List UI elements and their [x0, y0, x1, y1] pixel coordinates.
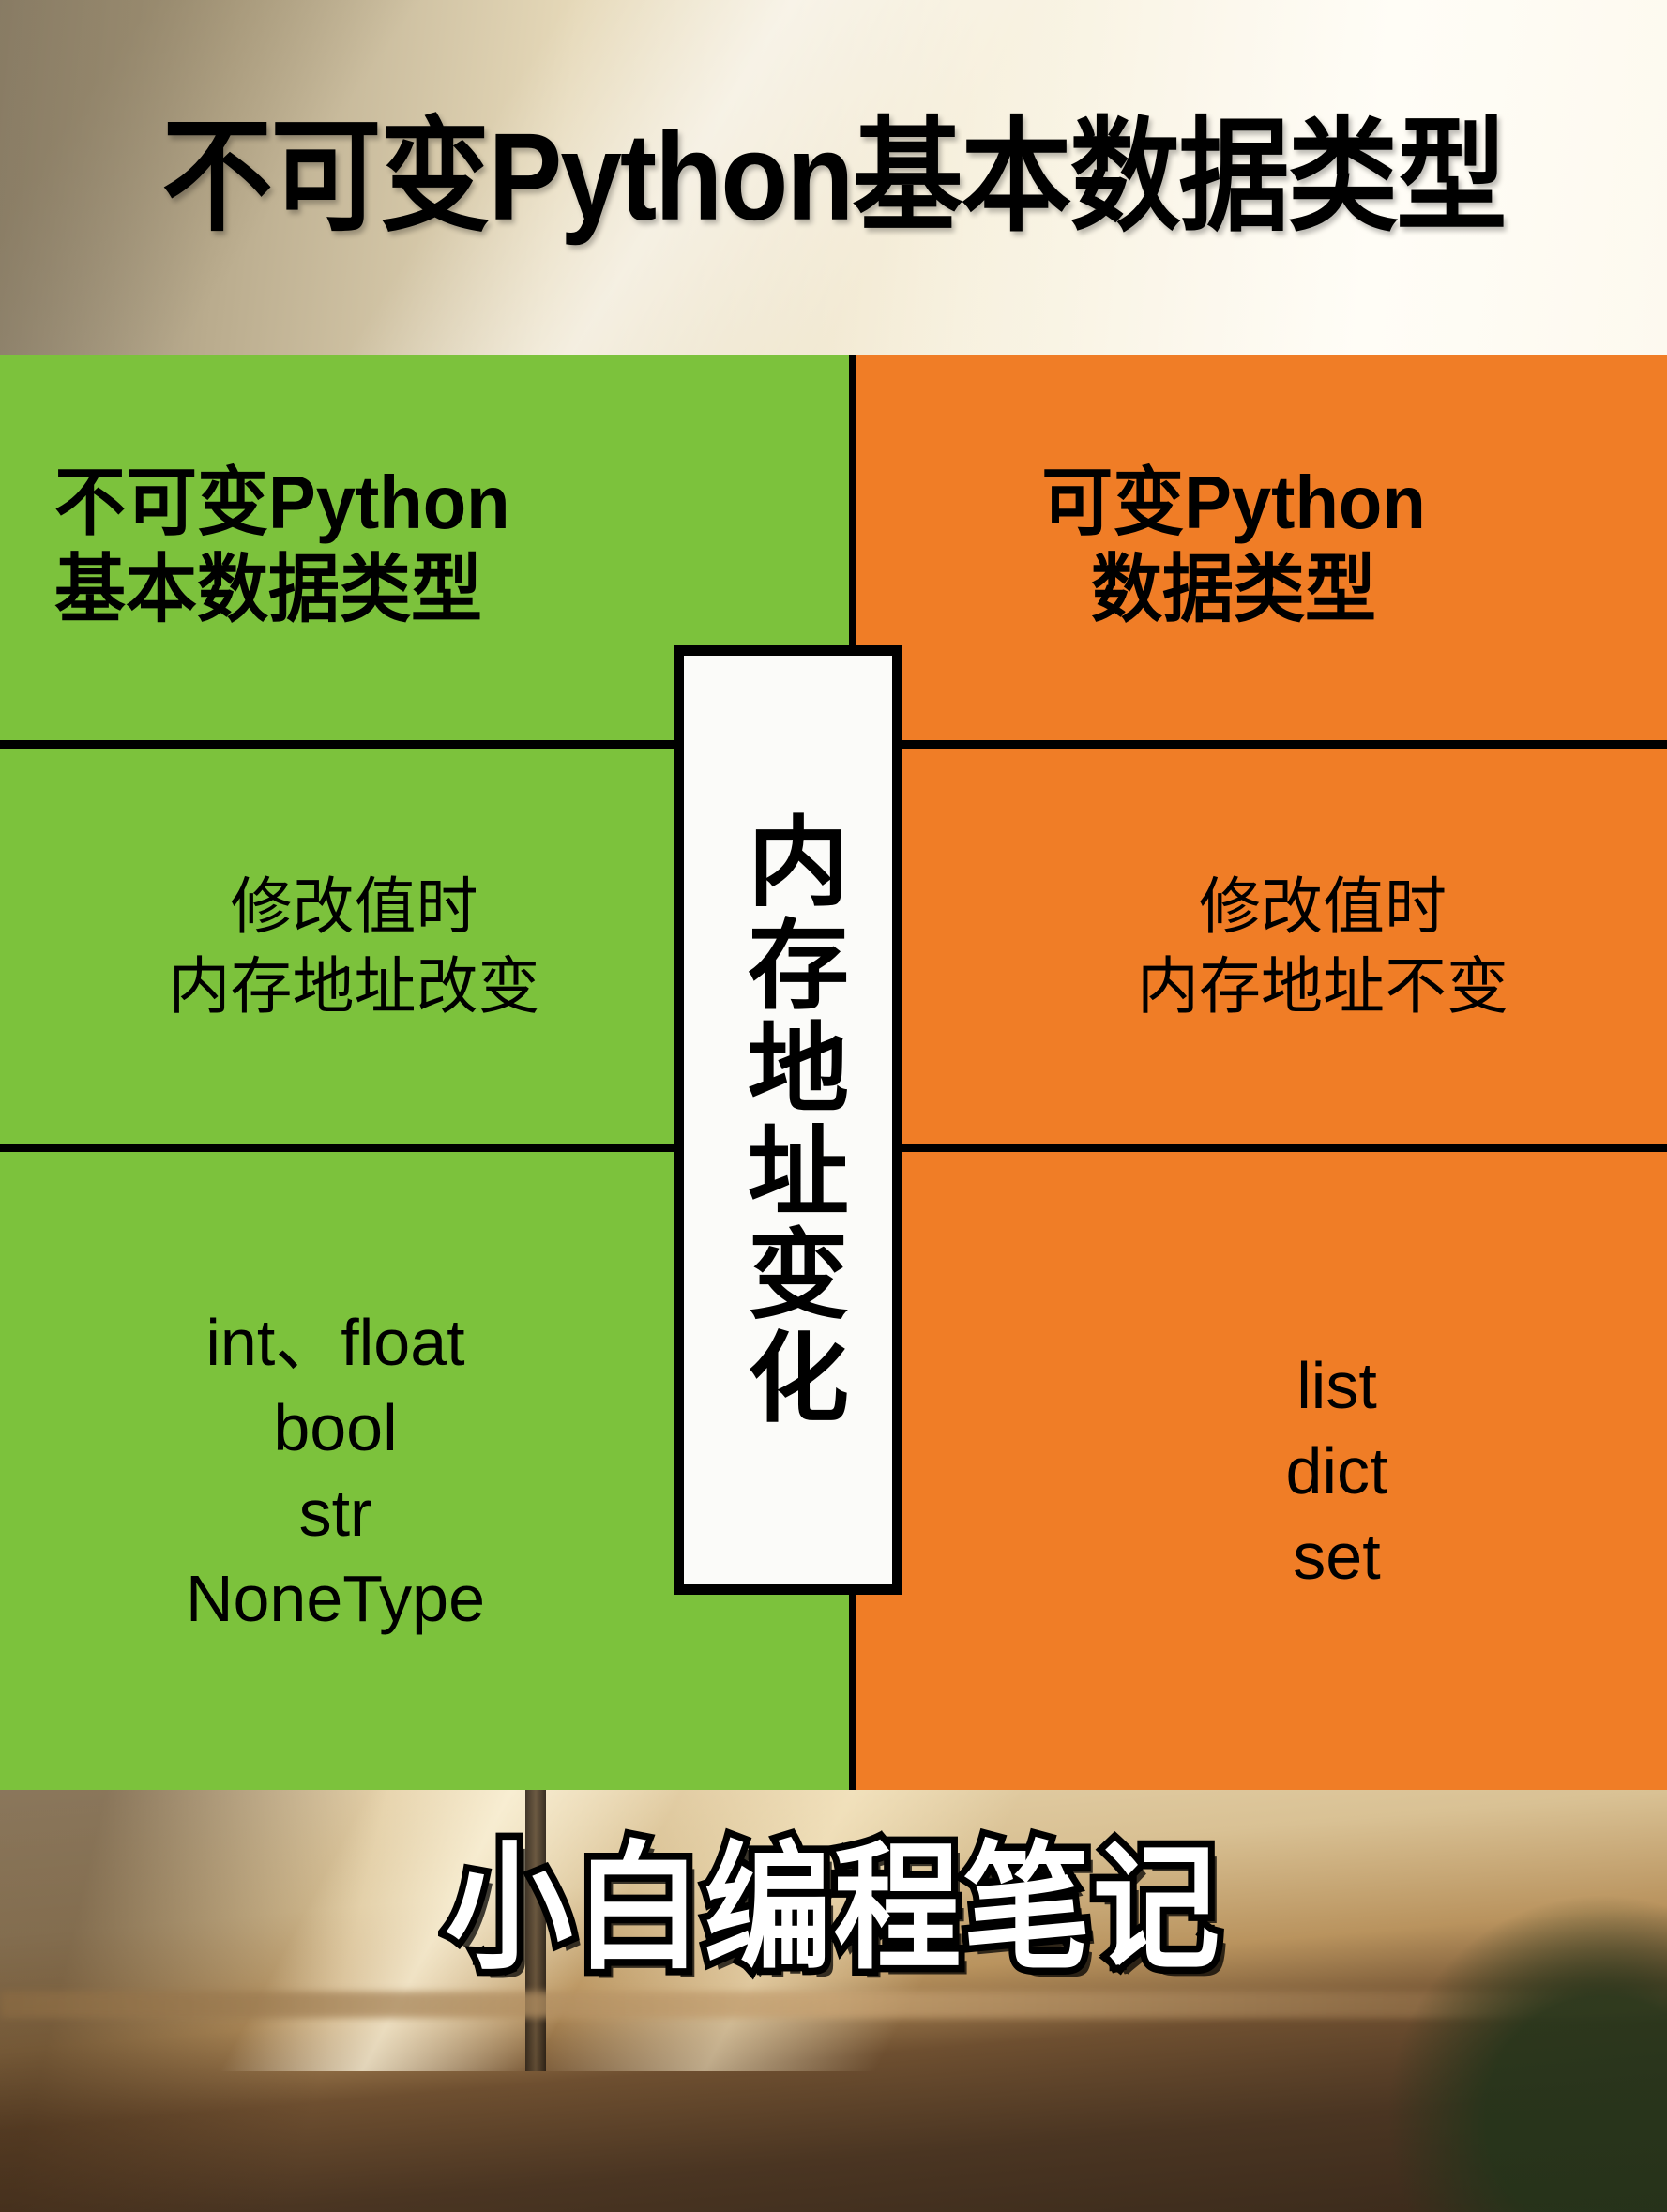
mutable-header-line1: 可变Python	[1041, 461, 1426, 548]
page-title: 不可变Python基本数据类型	[162, 115, 1506, 239]
mutable-types-list: list dict set	[1136, 1343, 1388, 1599]
mutable-header-line2: 数据类型	[1041, 548, 1426, 635]
list-item: dict	[1286, 1429, 1388, 1514]
mutable-behavior-line2: 内存地址不变	[1137, 947, 1508, 1025]
list-item: NoneType	[186, 1556, 485, 1642]
center-callout-box: 内存地址变化	[674, 645, 902, 1595]
mutable-header-text: 可变Python 数据类型	[1041, 461, 1482, 634]
mutable-behavior-line1: 修改值时	[1137, 867, 1508, 946]
title-bar: 不可变Python基本数据类型	[0, 0, 1667, 355]
list-item: bool	[186, 1386, 485, 1471]
immutable-behavior-text: 修改值时 内存地址改变	[169, 867, 681, 1025]
list-item: str	[186, 1471, 485, 1556]
immutable-behavior-line2: 内存地址改变	[169, 947, 540, 1025]
column-mutable: 可变Python 数据类型 修改值时 内存地址不变 list dict set	[856, 355, 1667, 1790]
cell-mutable-header: 可变Python 数据类型	[856, 355, 1667, 749]
list-item: list	[1286, 1343, 1388, 1429]
list-item: set	[1286, 1514, 1388, 1599]
footer-bar: 小白编程笔记	[0, 1790, 1667, 2212]
cell-mutable-behavior: 修改值时 内存地址不变	[856, 749, 1667, 1152]
immutable-types-list: int、float bool str NoneType	[186, 1300, 663, 1642]
list-item: int、float	[186, 1300, 485, 1386]
cell-mutable-types: list dict set	[856, 1152, 1667, 1790]
mutable-behavior-text: 修改值时 内存地址不变	[1015, 867, 1508, 1025]
center-callout-vertical-text: 内存地址变化	[737, 811, 839, 1430]
immutable-header-line1: 不可变Python	[54, 461, 510, 548]
immutable-header-text: 不可变Python 基本数据类型	[0, 461, 510, 634]
immutable-behavior-line1: 修改值时	[169, 867, 540, 946]
footer-watermark: 小白编程笔记	[446, 1840, 1222, 1977]
immutable-header-line2: 基本数据类型	[54, 548, 510, 635]
